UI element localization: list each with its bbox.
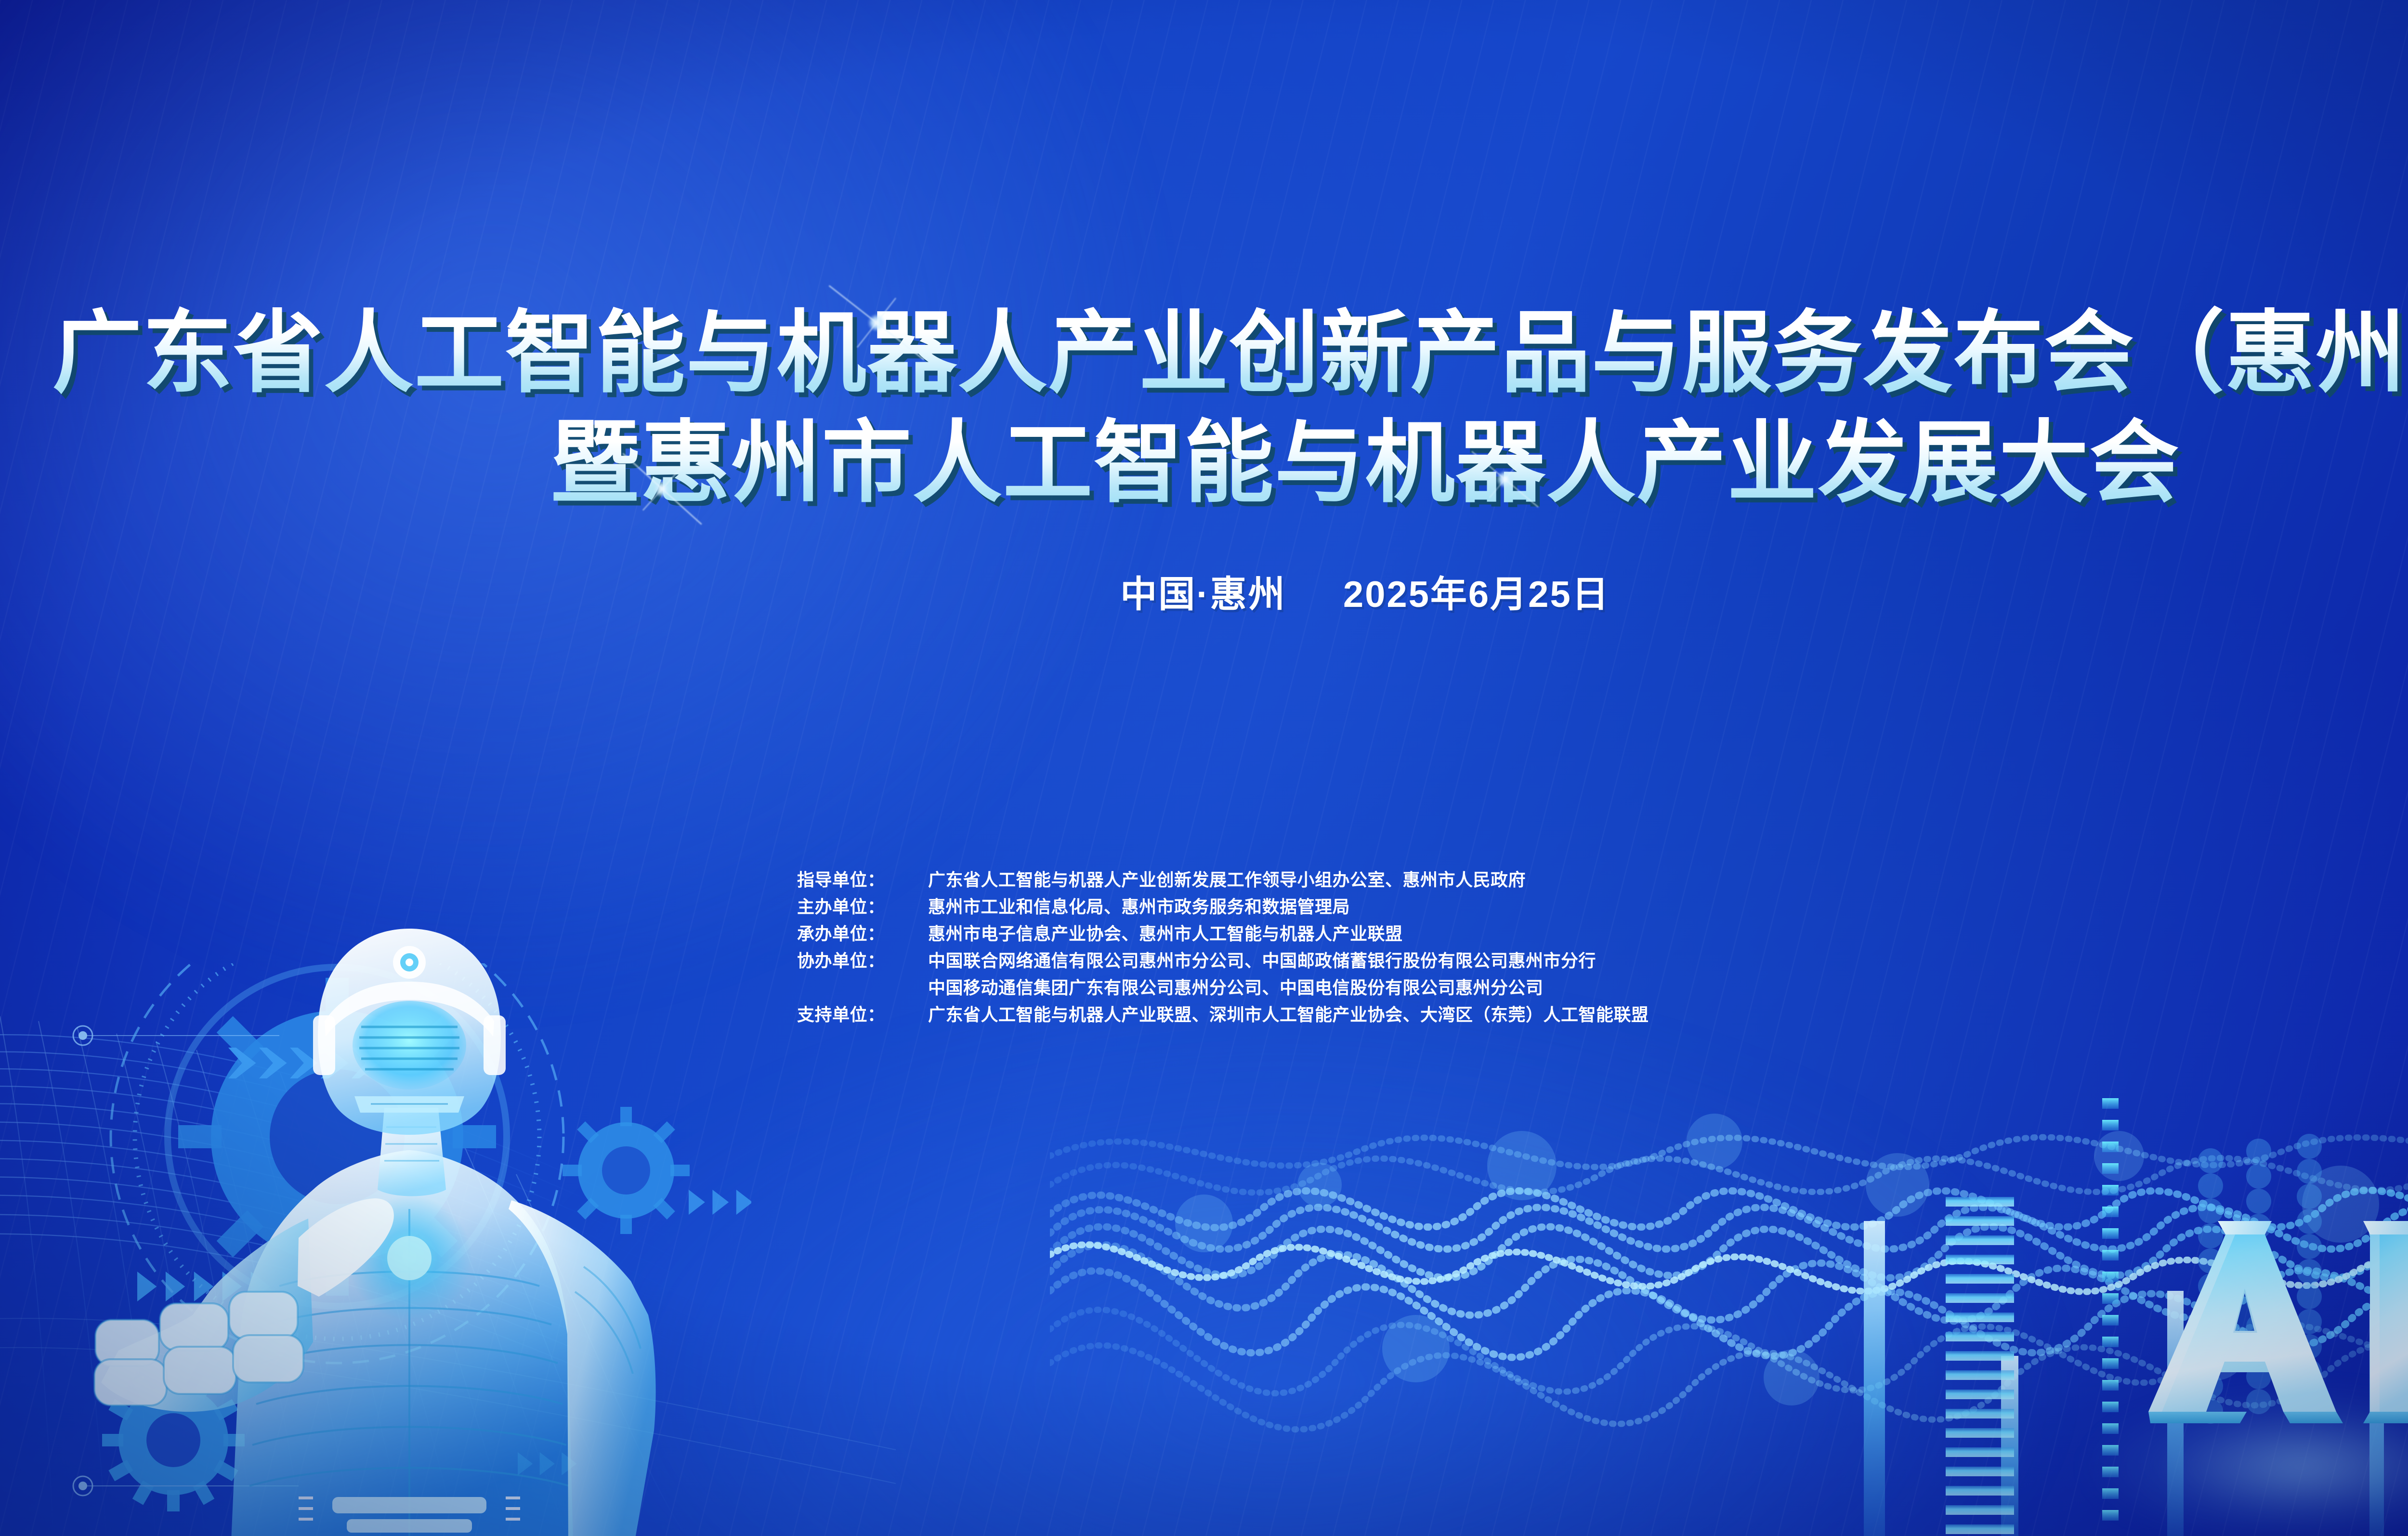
credit-row: 协办单位： 中国联合网络通信有限公司惠州市分公司、中国邮政储蓄银行股份有限公司惠… [797,947,1649,974]
credit-value: 惠州市工业和信息化局、惠州市政务服务和数据管理局 [928,893,1350,918]
credit-row: 承办单位： 惠州市电子信息产业协会、惠州市人工智能与机器人产业联盟 [797,920,1649,947]
event-subtitle: 中国·惠州 2025年6月25日 [0,565,2408,617]
credit-row: 主办单位： 惠州市工业和信息化局、惠州市政务服务和数据管理局 [797,893,1649,920]
credit-value: 中国移动通信集团广东有限公司惠州分公司、中国电信股份有限公司惠州分公司 [928,974,1544,999]
credit-row: 指导单位： 广东省人工智能与机器人产业创新发展工作领导小组办公室、惠州市人民政府 [797,866,1649,893]
credit-value: 中国联合网络通信有限公司惠州市分公司、中国邮政储蓄银行股份有限公司惠州市分行 [928,947,1596,972]
credit-value: 广东省人工智能与机器人产业创新发展工作领导小组办公室、惠州市人民政府 [928,866,1526,891]
credit-label: 承办单位： [797,920,928,945]
credit-label: 支持单位： [797,1001,928,1026]
credit-value: 惠州市电子信息产业协会、惠州市人工智能与机器人产业联盟 [928,920,1403,945]
organizer-credits: 指导单位： 广东省人工智能与机器人产业创新发展工作领导小组办公室、惠州市人民政府… [797,866,1649,1028]
credit-label: 主办单位： [797,893,928,918]
event-location: 中国·惠州 [1120,574,1286,615]
credit-value: 广东省人工智能与机器人产业联盟、深圳市人工智能产业协会、大湾区（东莞）人工智能联… [928,1001,1649,1026]
title-block: 广东省人工智能与机器人产业创新产品与服务发布会（惠州专场） 暨惠州市人工智能与机… [0,299,2408,518]
credit-row: 支持单位： 广东省人工智能与机器人产业联盟、深圳市人工智能产业协会、大湾区（东莞… [797,1001,1649,1028]
page-title-line-2: 暨惠州市人工智能与机器人产业发展大会 [0,408,2408,518]
credit-label: 协办单位： [797,947,928,972]
credit-label: 指导单位： [797,866,928,891]
page-title-line-1: 广东省人工智能与机器人产业创新产品与服务发布会（惠州专场） [0,299,2408,408]
credit-row-continued: 协办单位： 中国移动通信集团广东有限公司惠州分公司、中国电信股份有限公司惠州分公… [797,974,1649,1001]
event-date: 2025年6月25日 [1343,574,1610,615]
banner-canvas: 广东省人工智能与机器人产业创新产品与服务发布会（惠州专场） 暨惠州市人工智能与机… [0,0,2408,1536]
vignette-overlay [0,0,2408,1536]
